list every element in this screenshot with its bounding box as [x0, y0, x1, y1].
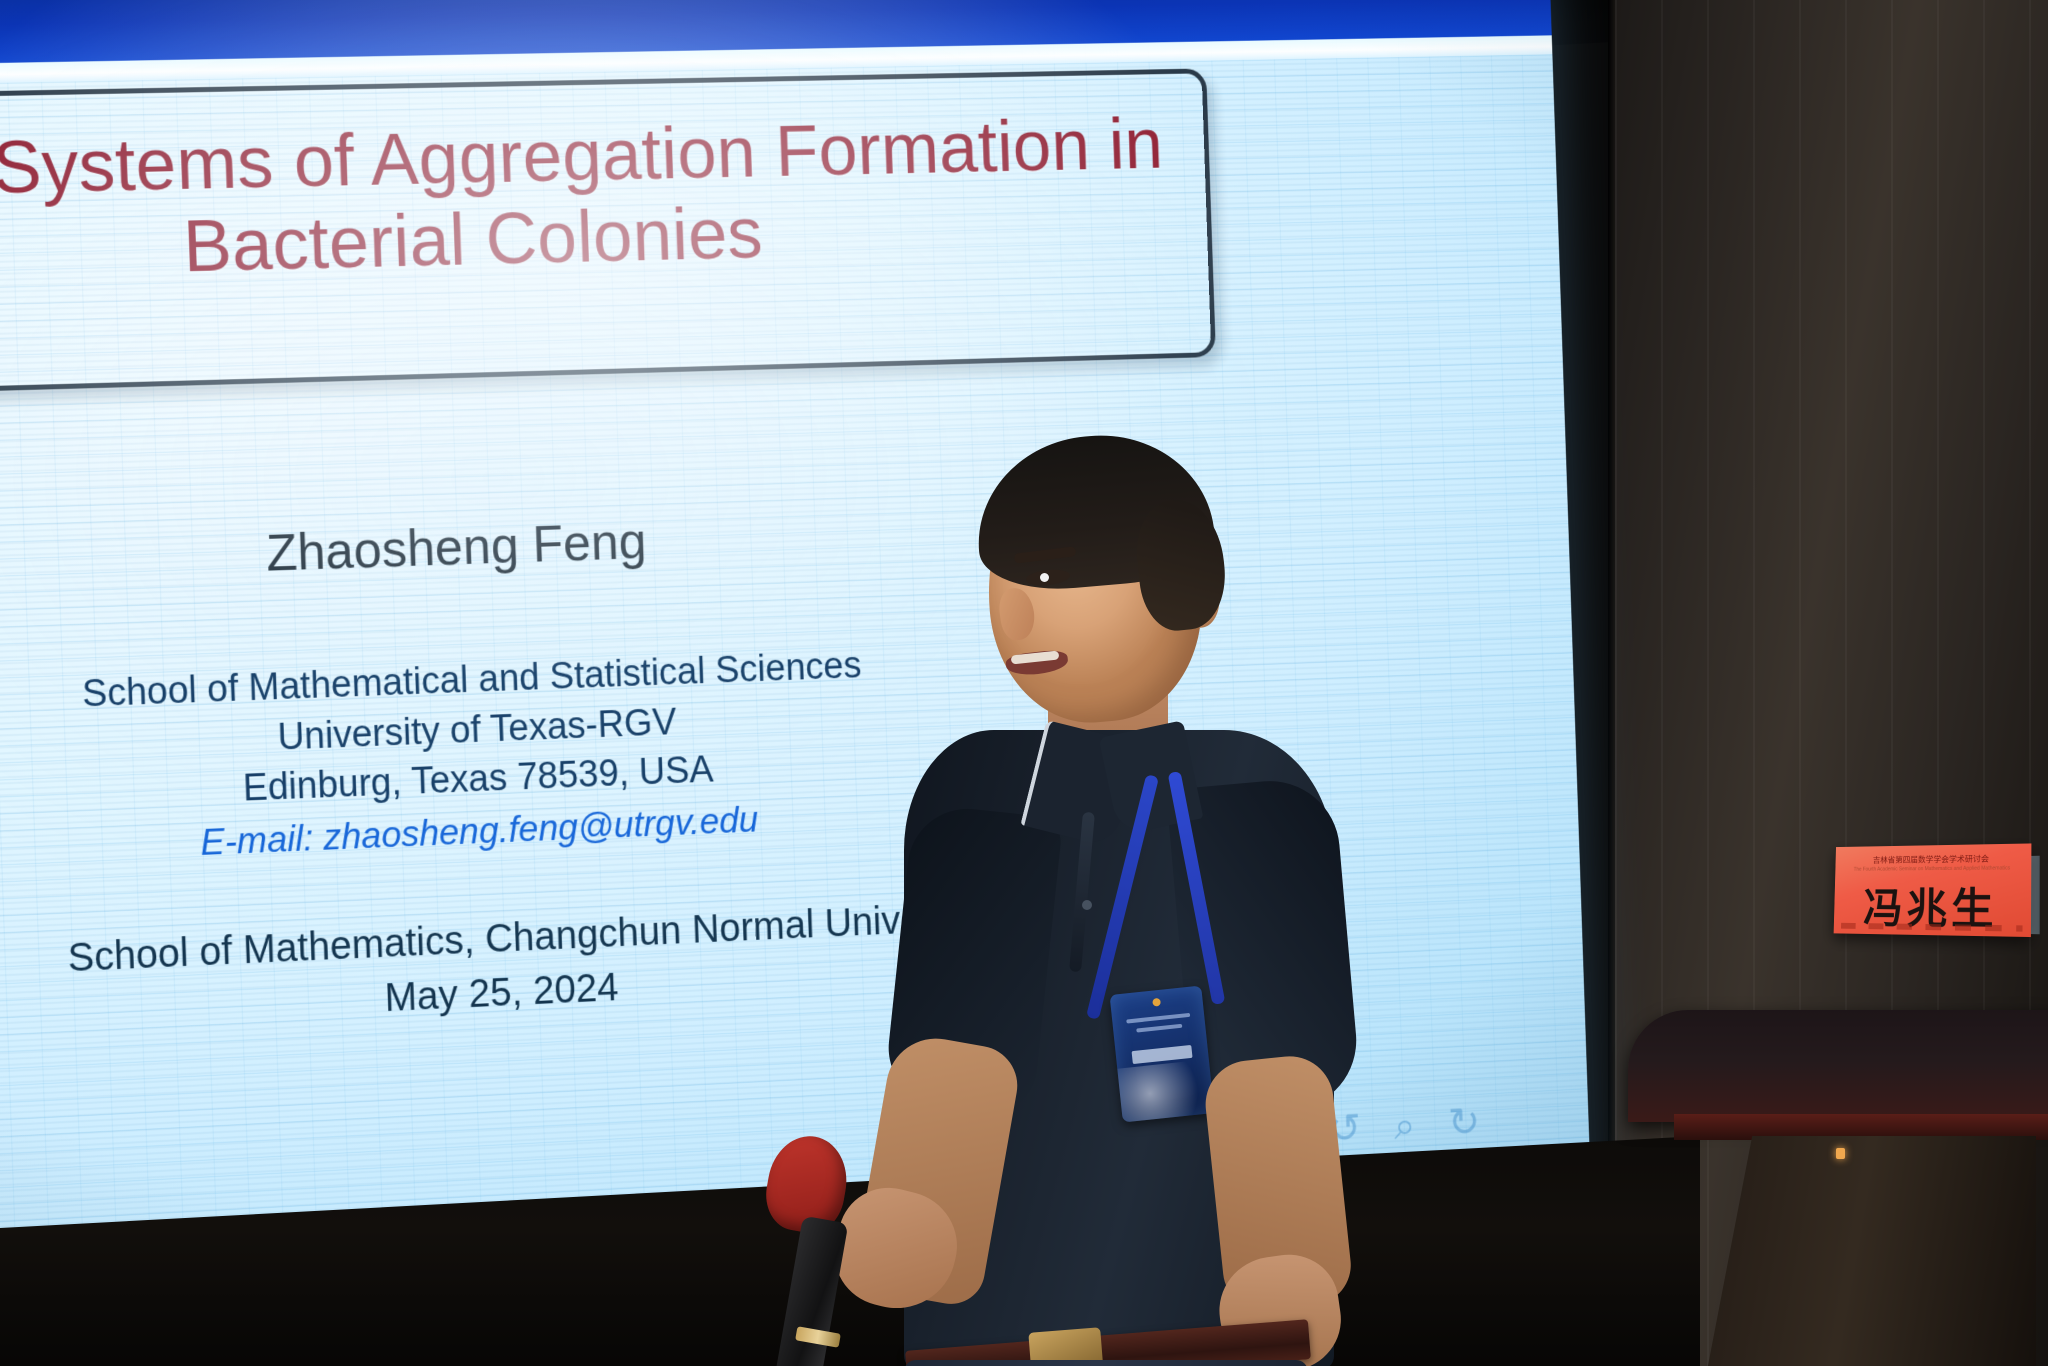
speaker-eye-highlight — [1040, 573, 1049, 582]
nameplate: 吉林省第四届数学学会学术研讨会 The Fourth Academic Semi… — [1834, 843, 2032, 937]
badge-subheader-line — [1136, 1024, 1182, 1033]
nameplate-subheader: The Fourth Academic Seminar on Mathemati… — [1844, 865, 2021, 873]
badge-header-line — [1126, 1013, 1190, 1024]
badge-emblem-icon — [1152, 998, 1161, 1007]
scene-root: rabolic Systems of Aggregation Formation… — [0, 0, 2048, 1366]
lectern-indicator-light — [1836, 1148, 1845, 1159]
speaker-figure — [880, 430, 1400, 1366]
lectern-top — [1628, 1010, 2048, 1122]
speaker-trousers — [904, 1360, 1308, 1366]
slide-affiliation: School of Mathematical and Statistical S… — [20, 639, 925, 874]
lectern — [1640, 1010, 2048, 1366]
conference-badge — [1110, 986, 1215, 1123]
badge-glare — [1111, 1060, 1208, 1122]
lectern-body — [1706, 1136, 2036, 1366]
speaker-shirt-button — [1082, 900, 1092, 910]
forward-icon[interactable]: ↻ — [1447, 1101, 1480, 1143]
nameplate-header: 吉林省第四届数学学会学术研讨会 — [1844, 854, 2020, 865]
